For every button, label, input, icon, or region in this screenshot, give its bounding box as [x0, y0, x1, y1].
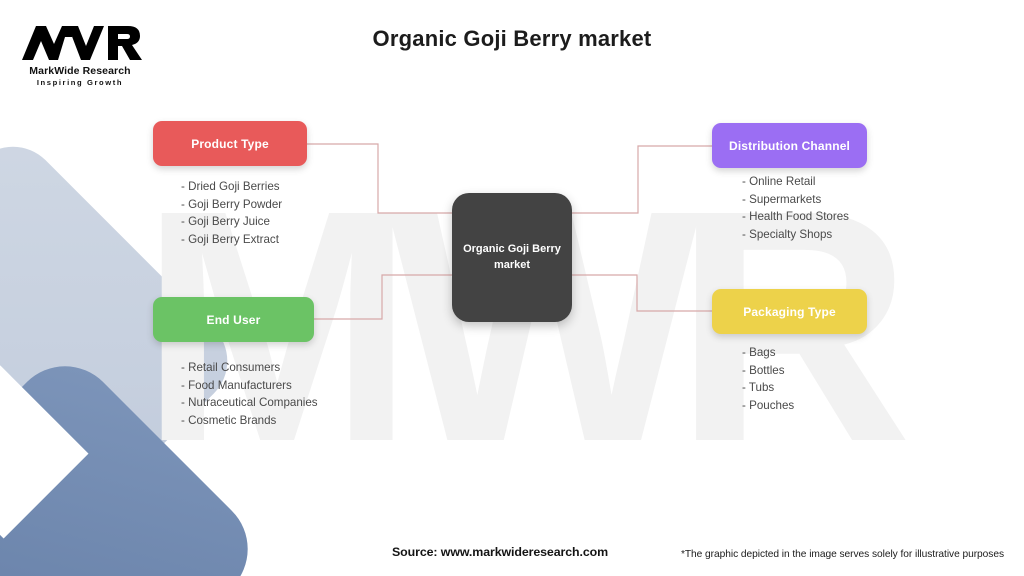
- branch-node-end-user[interactable]: End User: [153, 297, 314, 342]
- list-item: - Dried Goji Berries: [181, 178, 282, 196]
- branch-node-packaging-type[interactable]: Packaging Type: [712, 289, 867, 334]
- list-item: - Retail Consumers: [181, 359, 318, 377]
- list-item: - Supermarkets: [742, 191, 849, 209]
- list-item: - Health Food Stores: [742, 208, 849, 226]
- branch-list-end-user: - Retail Consumers - Food Manufacturers …: [181, 359, 318, 429]
- list-item: - Bottles: [742, 362, 794, 380]
- list-item: - Bags: [742, 344, 794, 362]
- connector-distribution-channel: [572, 146, 712, 213]
- infographic-canvas: MWR MarkWide Research Inspiring Growth O…: [0, 0, 1024, 576]
- branch-label-product-type: Product Type: [191, 137, 269, 151]
- branch-label-end-user: End User: [207, 313, 261, 327]
- list-item: - Cosmetic Brands: [181, 412, 318, 430]
- center-node-label-line1: Organic Goji Berry: [463, 243, 561, 255]
- branch-node-distribution-channel[interactable]: Distribution Channel: [712, 123, 867, 168]
- center-node-label-line2: market: [494, 259, 530, 271]
- list-item: - Pouches: [742, 397, 794, 415]
- center-node[interactable]: Organic Goji Berry market: [452, 193, 572, 322]
- list-item: - Goji Berry Extract: [181, 231, 282, 249]
- branch-list-distribution-channel: - Online Retail - Supermarkets - Health …: [742, 173, 849, 243]
- connector-end-user: [314, 275, 452, 319]
- list-item: - Online Retail: [742, 173, 849, 191]
- list-item: - Goji Berry Powder: [181, 196, 282, 214]
- source-label: Source: www.markwideresearch.com: [392, 545, 608, 559]
- connector-packaging-type: [572, 275, 712, 311]
- branch-label-packaging-type: Packaging Type: [743, 305, 836, 319]
- list-item: - Goji Berry Juice: [181, 213, 282, 231]
- branch-node-product-type[interactable]: Product Type: [153, 121, 307, 166]
- list-item: - Nutraceutical Companies: [181, 394, 318, 412]
- list-item: - Tubs: [742, 379, 794, 397]
- list-item: - Specialty Shops: [742, 226, 849, 244]
- connector-product-type: [307, 144, 452, 213]
- branch-label-distribution-channel: Distribution Channel: [729, 139, 850, 153]
- disclaimer-note: *The graphic depicted in the image serve…: [681, 549, 1004, 560]
- branch-list-product-type: - Dried Goji Berries - Goji Berry Powder…: [181, 178, 282, 248]
- branch-list-packaging-type: - Bags - Bottles - Tubs - Pouches: [742, 344, 794, 414]
- list-item: - Food Manufacturers: [181, 377, 318, 395]
